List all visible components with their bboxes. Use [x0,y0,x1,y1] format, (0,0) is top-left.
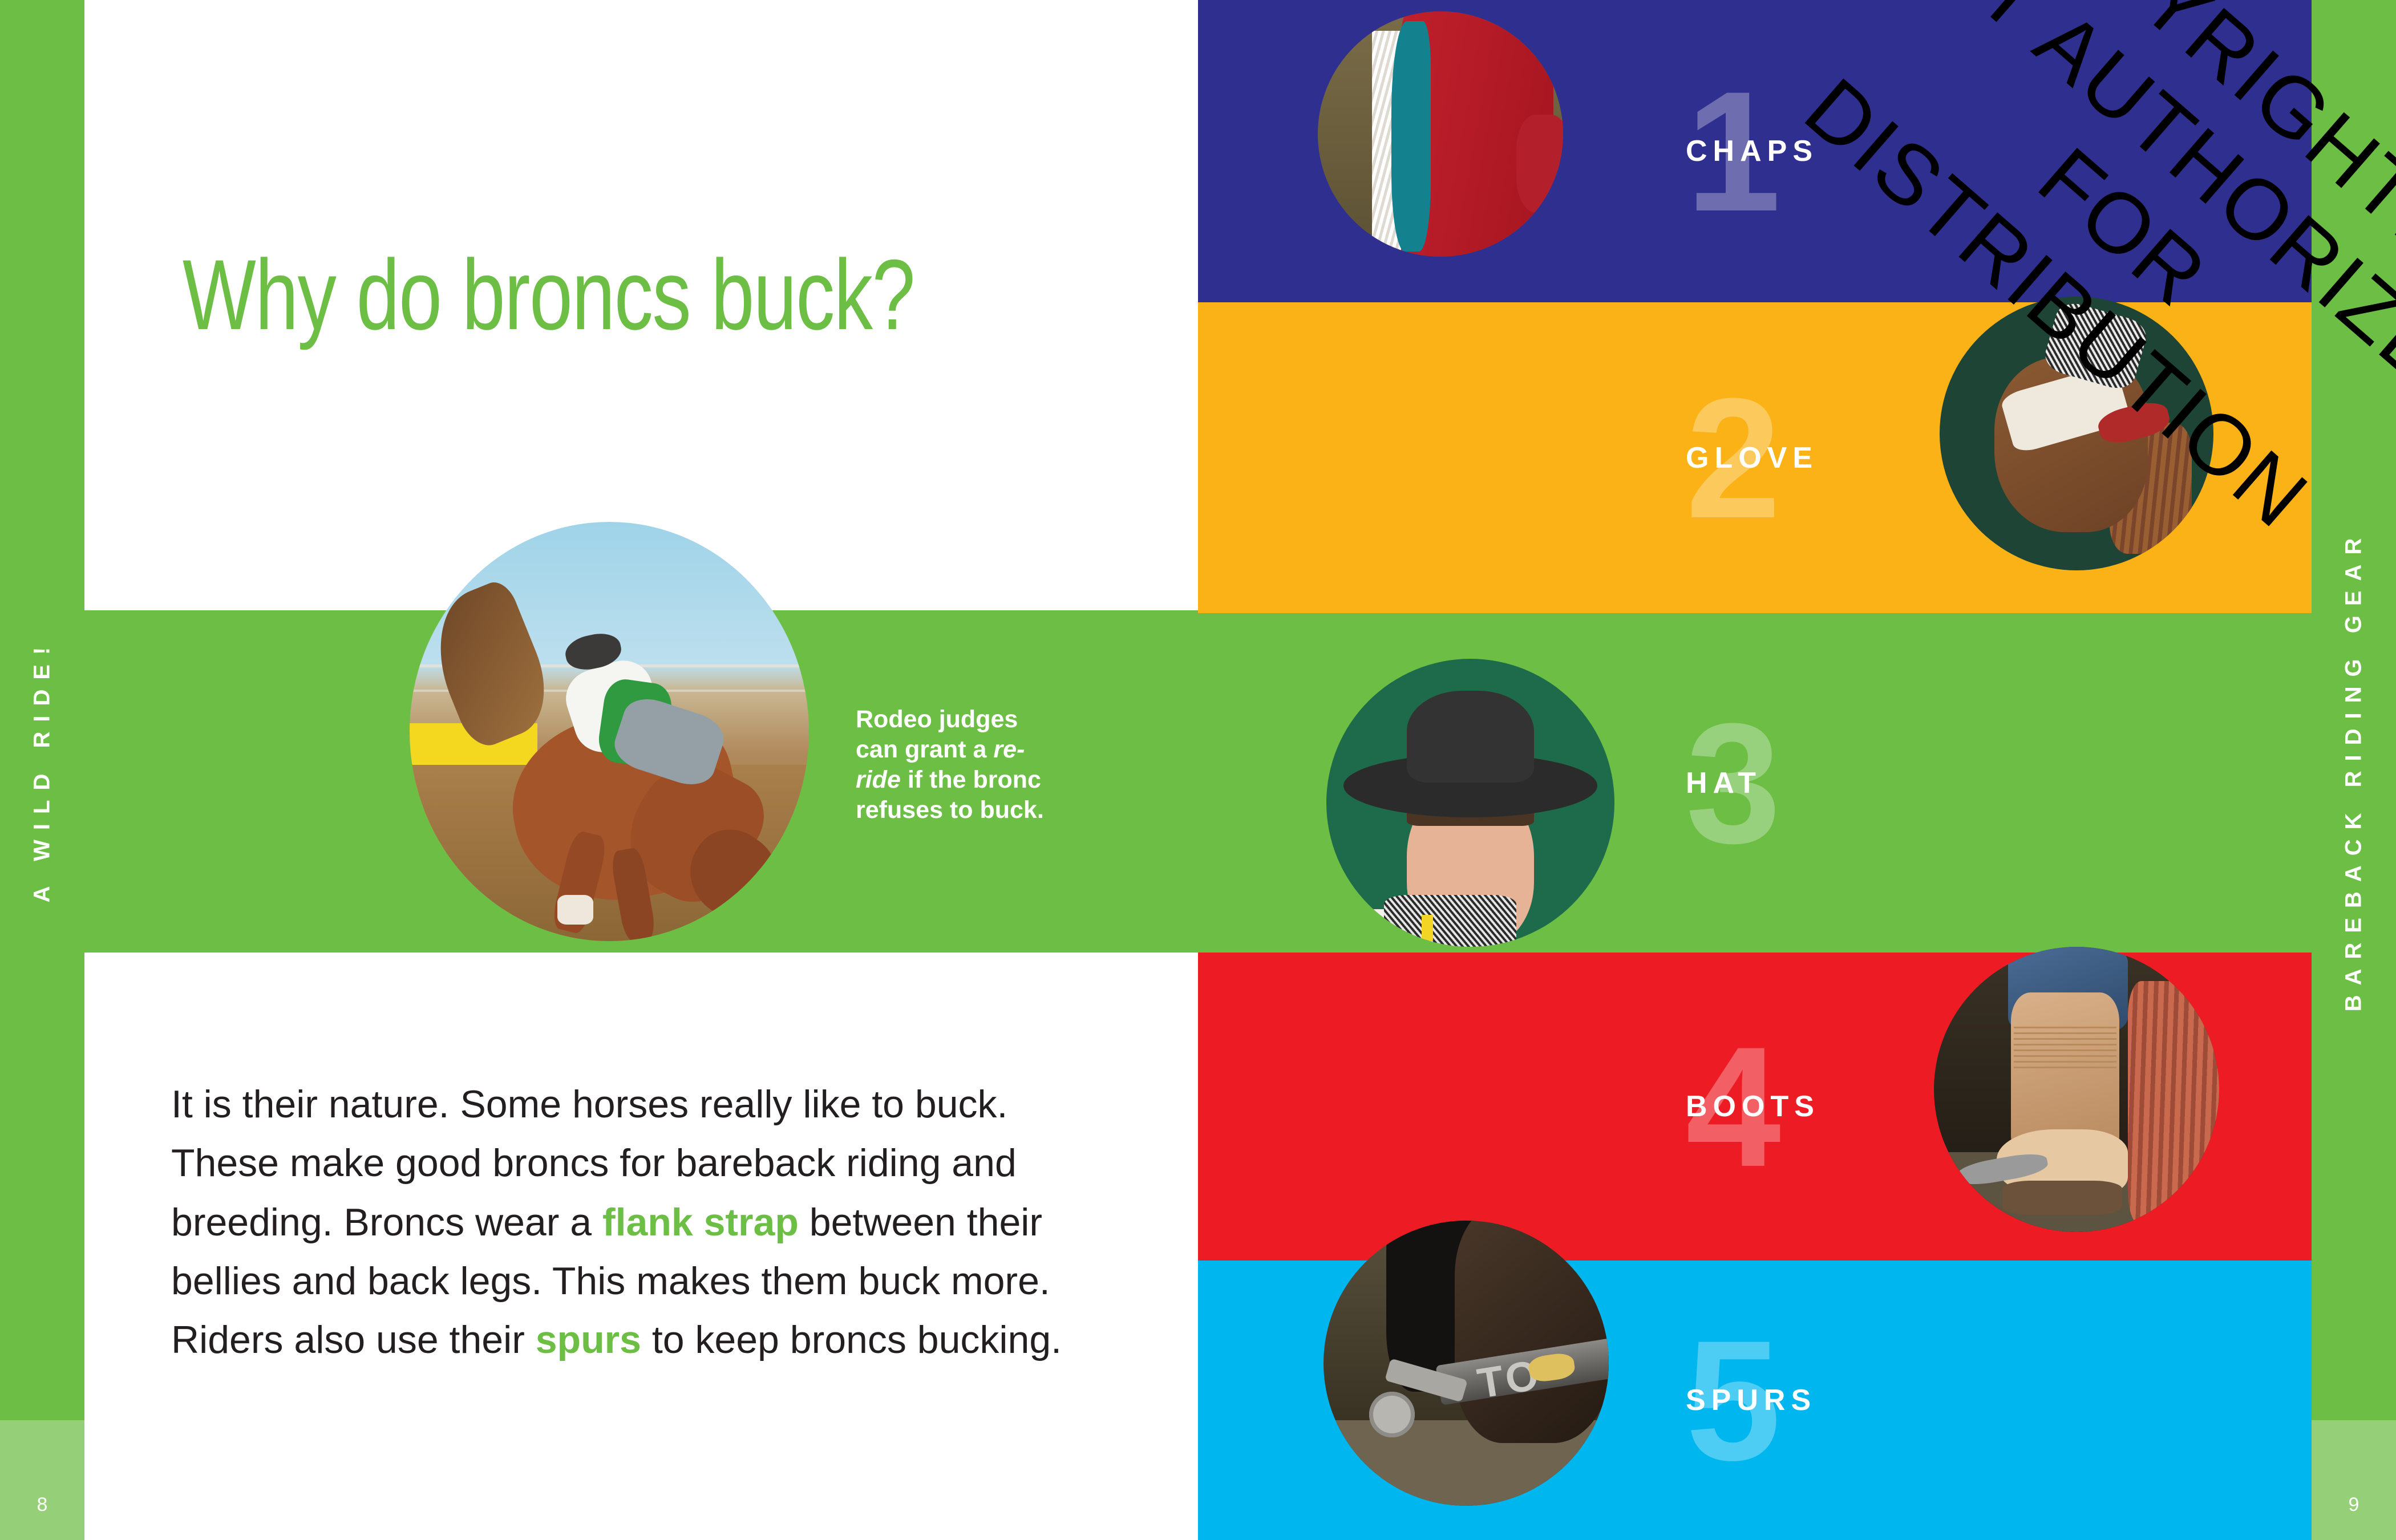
photo-caption: Rodeo judges can grant a re- ride if the… [856,704,1067,825]
hat-crown [1407,691,1533,783]
caption-line-1: Rodeo judges [856,706,1018,733]
left-rail: A WILD RIDE! [0,0,84,1540]
gear-label-boots: BOOTS [1686,1089,1820,1124]
rider-checked-collar [1384,895,1516,947]
horse-white-sock [557,895,593,924]
caption-line-3b: if the bronc [901,766,1041,793]
caption-line-4: refuses to buck. [856,796,1044,824]
spur-rowel [1369,1392,1415,1437]
right-rail-label: BAREBACK RIDING GEAR [2341,529,2367,1012]
right-page-number: 9 [2312,1494,2396,1516]
boot-heel [2002,1181,2122,1215]
left-folio-tint [0,1420,84,1540]
book-spread: Why do broncs buck? Rodeo judges can gra… [0,0,2396,1540]
body-text-part-3: to keep broncs bucking. [641,1318,1062,1361]
caption-term-part-1: re- [993,736,1025,763]
chaps-second-leg [1516,115,1563,213]
keyword-flank-strap: flank strap [602,1201,799,1244]
spur-near-boot [1455,1221,1609,1443]
boots-chap-fringe [2128,981,2219,1226]
cowboy-boots-photo [1934,947,2219,1232]
right-folio-tint [2312,1420,2396,1540]
riding-glove-photo [1940,297,2213,570]
caption-line-2a: can grant a [856,736,993,763]
yellow-ribbon-pin [1422,915,1433,941]
boot-stitching [2014,1027,2116,1072]
gear-label-spurs: SPURS [1686,1383,1816,1417]
left-rail-label: A WILD RIDE! [30,638,55,903]
chaps-teal-scroll [1391,21,1431,252]
gear-label-hat: HAT [1686,766,1762,800]
spur-photo: TO [1324,1221,1609,1506]
gear-label-chaps: CHAPS [1686,134,1818,168]
left-page-number: 8 [0,1494,84,1516]
left-page: Why do broncs buck? Rodeo judges can gra… [0,0,1198,1540]
caption-term-part-2: ride [856,766,901,793]
keyword-spurs: spurs [536,1318,641,1361]
page-title: Why do broncs buck? [183,245,917,345]
right-rail: BAREBACK RIDING GEAR [2312,0,2396,1540]
red-chaps-photo [1318,11,1563,257]
gear-band-glove: 2 GLOVE [1198,302,2396,613]
bronc-rider-photo [410,522,809,941]
cowboy-hat-photo [1326,659,1614,947]
gear-label-glove: GLOVE [1686,441,1818,475]
boot-shaft [2011,992,2119,1152]
body-paragraph: It is their nature. Some horses really l… [171,1075,1095,1370]
